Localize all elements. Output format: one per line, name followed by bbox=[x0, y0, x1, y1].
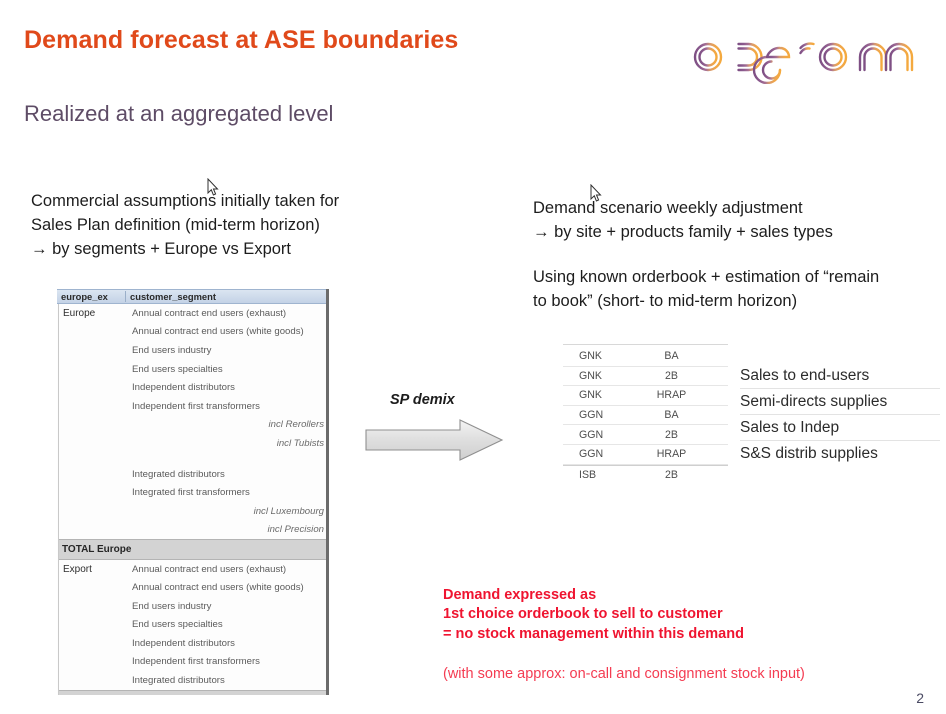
table-row: Independent distributors bbox=[59, 378, 326, 397]
table-row: Annual contract end users (white goods) bbox=[59, 323, 326, 342]
table-row: End users industry bbox=[59, 597, 326, 616]
page-subtitle: Realized at an aggregated level bbox=[24, 101, 333, 127]
sales-types-list: Sales to end-usersSemi-directs suppliesS… bbox=[740, 363, 940, 466]
cell-segment: Integrated first transformers bbox=[128, 487, 326, 498]
site-product-table: GNKBAGNK2BGNKHRAPGGNBAGGN2BGGNHRAPISB2B bbox=[563, 344, 728, 484]
sp-demix-arrow-group: SP demix bbox=[364, 392, 510, 464]
cell-segment: Independent distributors bbox=[128, 638, 326, 649]
cell-segment: Annual contract end users (white goods) bbox=[128, 582, 326, 593]
cell-segment: incl Rerollers bbox=[128, 419, 326, 430]
table-row: incl Rerollers bbox=[59, 416, 326, 435]
cell-segment: Independent first transformers bbox=[128, 401, 326, 412]
table-row: End users specialties bbox=[59, 616, 326, 635]
page-number: 2 bbox=[916, 690, 924, 706]
column-header-customer-segment: customer_segment bbox=[126, 291, 326, 302]
table-row: incl Luxembourg bbox=[59, 502, 326, 521]
table-row: Annual contract end users (white goods) bbox=[59, 578, 326, 597]
cell-segment: Annual contract end users (exhaust) bbox=[128, 564, 326, 575]
site-product-row: ISB2B bbox=[563, 465, 728, 485]
site-product-row: GNK2B bbox=[563, 367, 728, 387]
table-row: Integrated first transformers bbox=[59, 483, 326, 502]
cell-segment: Annual contract end users (white goods) bbox=[128, 326, 326, 337]
table-row-total: TOTAL Export bbox=[59, 690, 326, 695]
cell-segment: Integrated distributors bbox=[128, 469, 326, 480]
mouse-cursor-icon bbox=[207, 178, 219, 197]
table-row: End users industry bbox=[59, 341, 326, 360]
cell-site: GNK bbox=[563, 350, 637, 362]
cell-product: BA bbox=[637, 409, 728, 421]
cell-segment: Annual contract end users (exhaust) bbox=[128, 308, 326, 319]
sales-type-item: Sales to Indep bbox=[740, 415, 940, 441]
cell-site: GNK bbox=[563, 389, 637, 401]
table-row-total: TOTAL Europe bbox=[59, 539, 326, 560]
cell-site: GGN bbox=[563, 448, 637, 460]
cell-product: BA bbox=[637, 350, 728, 362]
table-row: Independent first transformers bbox=[59, 653, 326, 672]
cell-segment: incl Tubists bbox=[128, 438, 326, 449]
site-product-rows: GNKBAGNK2BGNKHRAPGGNBAGGN2BGGNHRAPISB2B bbox=[563, 347, 728, 484]
aperam-logo bbox=[678, 22, 928, 84]
cell-segment: Independent first transformers bbox=[128, 656, 326, 667]
cell-product: HRAP bbox=[637, 448, 728, 460]
table-row: EuropeAnnual contract end users (exhaust… bbox=[59, 304, 326, 323]
table-row bbox=[59, 453, 326, 465]
table-row: End users specialties bbox=[59, 360, 326, 379]
table-row: Independent first transformers bbox=[59, 397, 326, 416]
cell-region: Europe bbox=[59, 308, 128, 319]
cell-region: Export bbox=[59, 564, 128, 575]
cell-segment: End users industry bbox=[128, 601, 326, 612]
site-product-row: GGNBA bbox=[563, 406, 728, 426]
site-product-row: GNKHRAP bbox=[563, 386, 728, 406]
cell-total-label: TOTAL Europe bbox=[59, 544, 131, 555]
table-divider bbox=[563, 344, 728, 345]
orderbook-estimation-text: Using known orderbook + estimation of “r… bbox=[533, 265, 946, 313]
callout-bold-text: Demand expressed as 1st choice orderbook… bbox=[443, 586, 883, 645]
page-title: Demand forecast at ASE boundaries bbox=[24, 26, 458, 55]
cell-product: HRAP bbox=[637, 389, 728, 401]
table-body: EuropeAnnual contract end users (exhaust… bbox=[58, 304, 326, 695]
site-product-row: GGN2B bbox=[563, 425, 728, 445]
site-product-row: GGNHRAP bbox=[563, 445, 728, 465]
cell-segment: incl Precision bbox=[128, 524, 326, 535]
cell-segment: incl Luxembourg bbox=[128, 506, 326, 517]
cell-product: 2B bbox=[637, 370, 728, 382]
sales-type-item: S&S distrib supplies bbox=[740, 441, 940, 466]
cell-segment: End users specialties bbox=[128, 619, 326, 630]
demand-scenario-text: Demand scenario weekly adjustment → by s… bbox=[533, 196, 945, 244]
column-header-europe-ex: europe_ex bbox=[57, 291, 126, 302]
cell-segment: End users industry bbox=[128, 345, 326, 356]
table-row: Integrated distributors bbox=[59, 671, 326, 690]
cell-site: ISB bbox=[563, 469, 637, 481]
table-row: incl Tubists bbox=[59, 434, 326, 453]
sales-type-item: Semi-directs supplies bbox=[740, 389, 940, 415]
table-row: ExportAnnual contract end users (exhaust… bbox=[59, 560, 326, 579]
table-header-row: europe_ex customer_segment bbox=[57, 289, 326, 304]
cell-segment: Independent distributors bbox=[128, 382, 326, 393]
demand-callout: Demand expressed as 1st choice orderbook… bbox=[443, 566, 883, 704]
table-row: incl Precision bbox=[59, 521, 326, 540]
cell-site: GGN bbox=[563, 429, 637, 441]
customer-segment-table: europe_ex customer_segment EuropeAnnual … bbox=[57, 289, 329, 695]
cell-product: 2B bbox=[637, 469, 728, 481]
right-arrow-icon bbox=[364, 418, 504, 462]
cell-segment: End users specialties bbox=[128, 364, 326, 375]
commercial-assumptions-text: Commercial assumptions initially taken f… bbox=[31, 189, 461, 261]
cell-segment: Integrated distributors bbox=[128, 675, 326, 686]
callout-note-text: (with some approx: on-call and consignme… bbox=[443, 665, 883, 685]
sp-demix-label: SP demix bbox=[390, 392, 455, 408]
cell-site: GGN bbox=[563, 409, 637, 421]
table-row: Integrated distributors bbox=[59, 465, 326, 484]
cell-product: 2B bbox=[637, 429, 728, 441]
cell-site: GNK bbox=[563, 370, 637, 382]
sales-type-item: Sales to end-users bbox=[740, 363, 940, 389]
mouse-cursor-icon bbox=[590, 184, 602, 203]
table-row: Independent distributors bbox=[59, 634, 326, 653]
site-product-row: GNKBA bbox=[563, 347, 728, 367]
